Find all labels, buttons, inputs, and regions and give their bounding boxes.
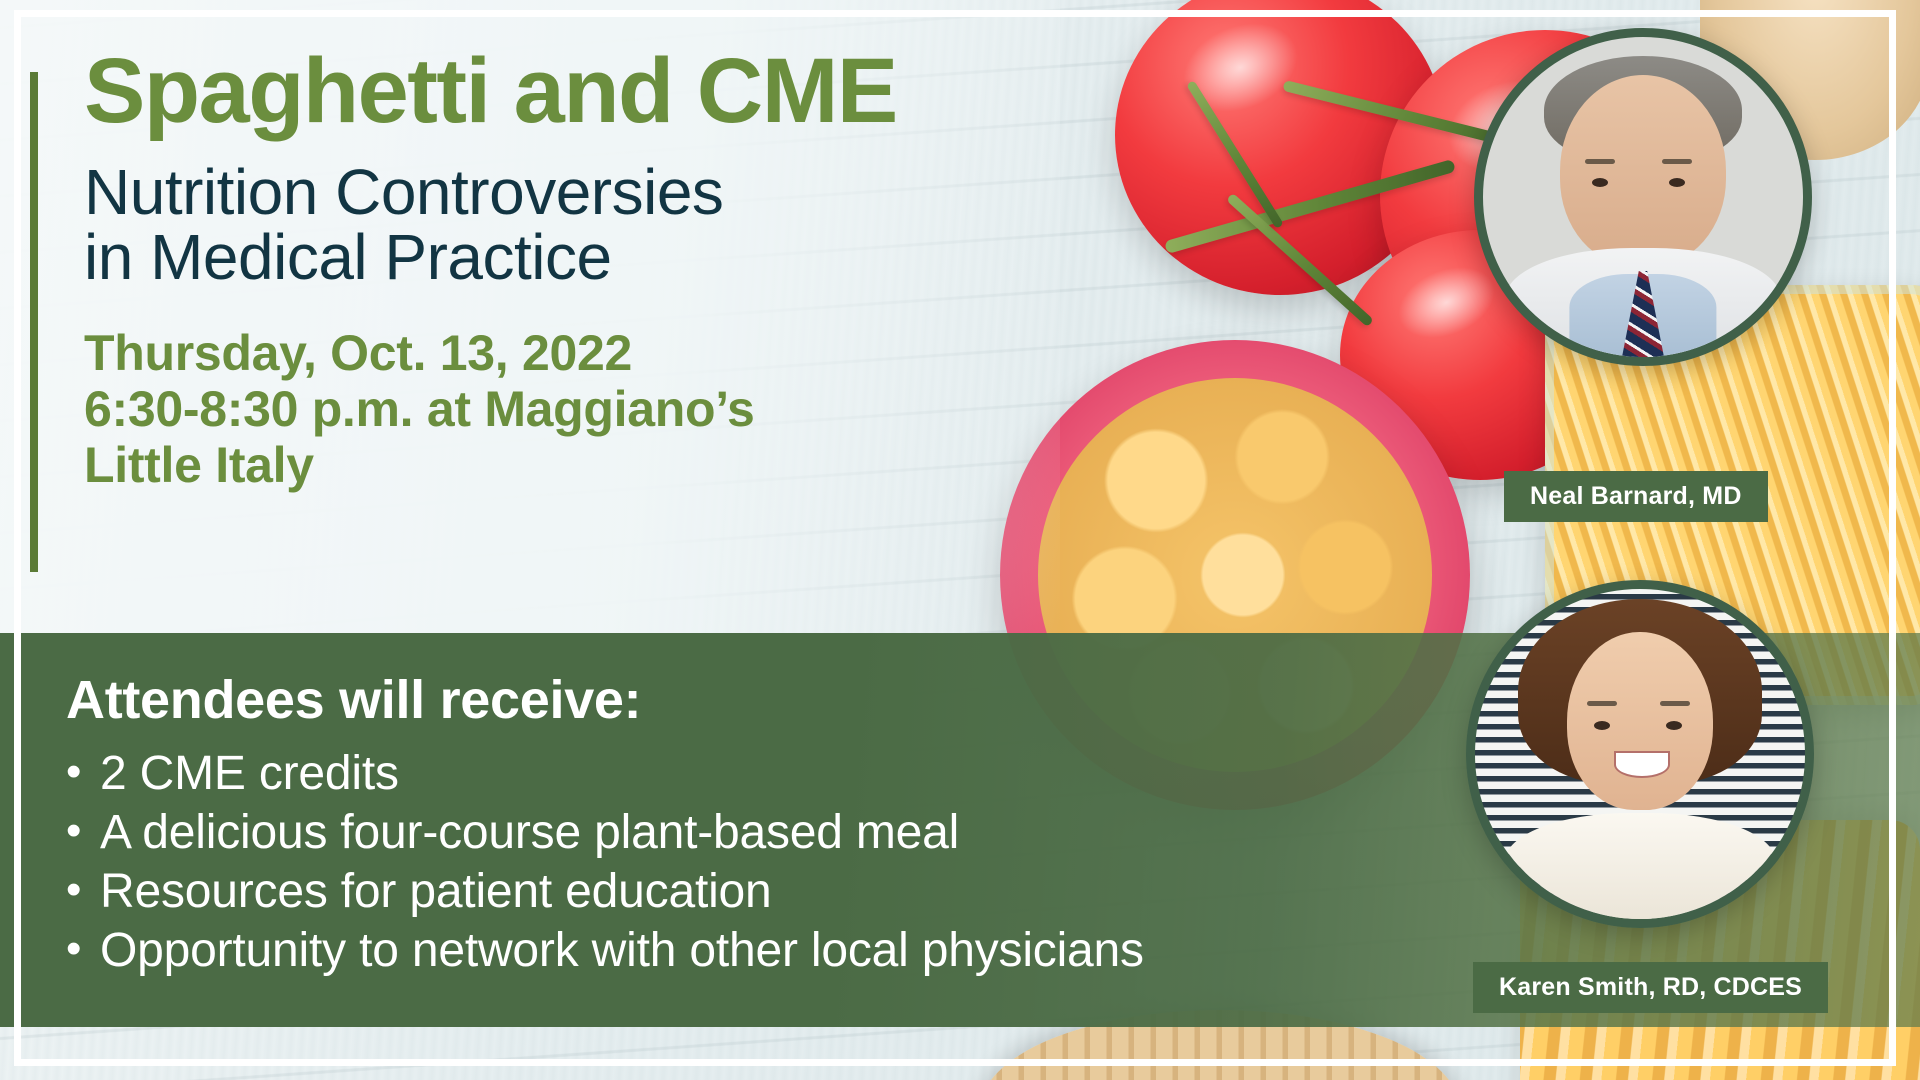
eyebrow xyxy=(1662,159,1692,164)
eyebrow xyxy=(1587,701,1617,706)
event-date: Thursday, Oct. 13, 2022 xyxy=(84,325,1014,381)
eye xyxy=(1592,178,1608,187)
head xyxy=(1567,632,1712,810)
event-venue-line-2: Little Italy xyxy=(84,437,1014,493)
speaker-name-tag: Karen Smith, RD, CDCES xyxy=(1473,962,1828,1013)
event-title: Spaghetti and CME xyxy=(84,46,1014,136)
event-details: Thursday, Oct. 13, 2022 6:30-8:30 p.m. a… xyxy=(84,325,1014,493)
avatar xyxy=(1474,28,1812,366)
headline-group: Spaghetti and CME Nutrition Controversie… xyxy=(84,46,1014,493)
event-subtitle-line-1: Nutrition Controversies xyxy=(84,160,1014,225)
mouth xyxy=(1614,751,1671,778)
speaker-name-tag: Neal Barnard, MD xyxy=(1504,471,1768,522)
head xyxy=(1560,75,1726,267)
event-subtitle: Nutrition Controversies in Medical Pract… xyxy=(84,160,1014,291)
eyebrow xyxy=(1660,701,1690,706)
speaker-face xyxy=(1483,37,1803,357)
event-promo-banner: Spaghetti and CME Nutrition Controversie… xyxy=(0,0,1920,1080)
eye xyxy=(1594,721,1610,730)
event-time-venue: 6:30-8:30 p.m. at Maggiano’s xyxy=(84,381,1014,437)
event-subtitle-line-2: in Medical Practice xyxy=(84,225,1014,290)
blazer xyxy=(1505,813,1776,919)
speaker-photo-karen-smith xyxy=(1466,580,1814,928)
speaker-face xyxy=(1475,589,1805,919)
eyebrow xyxy=(1585,159,1615,164)
green-accent-bar xyxy=(30,72,38,572)
tomato-highlight xyxy=(1170,7,1311,129)
eye xyxy=(1669,178,1685,187)
avatar xyxy=(1466,580,1814,928)
speaker-photo-neal-barnard xyxy=(1474,28,1812,366)
